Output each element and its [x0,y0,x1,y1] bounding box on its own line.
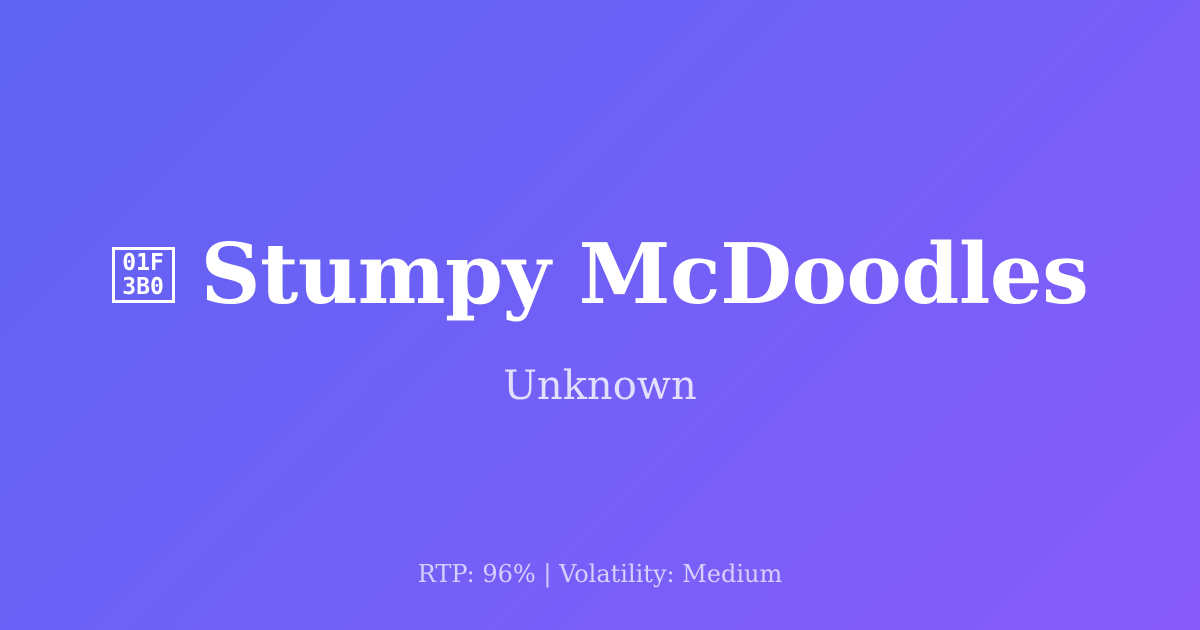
tofu-codepoint-row-top: 01F [122,251,164,276]
tofu-codepoint-row-bottom: 3B0 [122,275,164,300]
hero-block: 01F 3B0 Stumpy McDoodles Unknown [0,232,1200,410]
og-share-card: 01F 3B0 Stumpy McDoodles Unknown RTP: 96… [0,0,1200,630]
footer-bar: RTP: 96% | Volatility: Medium [0,518,1200,630]
slot-machine-icon: 01F 3B0 [112,247,175,303]
page-subtitle: Unknown [503,362,697,410]
game-stats-line: RTP: 96% | Volatility: Medium [418,560,783,589]
title-row: 01F 3B0 Stumpy McDoodles [0,232,1200,317]
page-title: Stumpy McDoodles [201,232,1089,317]
